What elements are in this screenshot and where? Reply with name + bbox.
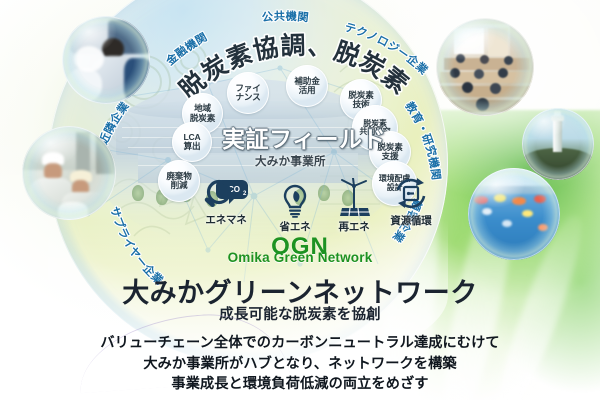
photo-bubble-office-worker <box>62 16 150 104</box>
tagline-line-3: 事業成長と環境負荷低減の両立をめざす <box>0 374 600 395</box>
magnifier-co2-icon: CO 2 <box>190 177 262 211</box>
capability-renewable-energy: 再エネ <box>322 178 386 234</box>
wind-turbine-solar-icon <box>322 178 386 218</box>
ogn-full-name: Omika Green Network <box>0 250 600 265</box>
capability-label: エネマネ <box>190 212 262 227</box>
recycling-arrows-icon <box>378 176 444 212</box>
omika-green-network-infographic: 地域・近隣企業 金融機関 公共機関 テクノロジー企業 教育・研究機関 顧客企業 … <box>0 0 600 400</box>
capability-energy-management: CO 2 エネマネ <box>190 177 262 227</box>
tagline-line-1: バリューチェーン全体でのカーボンニュートラル達成にむけて <box>0 333 600 354</box>
capability-resource-circulation: 資源循環 <box>378 176 444 228</box>
page-subtitle: 成長可能な脱炭素を協創 <box>0 303 600 324</box>
tagline-block: バリューチェーン全体でのカーボンニュートラル達成にむけて 大みか事業所がハブとな… <box>0 333 600 395</box>
photo-bubble-lecture-hall <box>436 18 534 116</box>
capability-label: 資源循環 <box>378 213 444 228</box>
tagline-line-2: 大みか事業所がハブとなり、ネットワークを構築 <box>0 354 600 375</box>
bubble-glow <box>22 126 116 220</box>
capability-label: 再エネ <box>322 219 386 234</box>
bubble-glow <box>62 16 150 104</box>
capability-energy-saving: 省エネ <box>262 184 328 234</box>
capability-label: 省エネ <box>262 219 328 234</box>
lightbulb-leaf-icon <box>262 184 328 218</box>
bubble-glow <box>436 18 534 116</box>
photo-bubble-factory-workers <box>22 126 116 220</box>
